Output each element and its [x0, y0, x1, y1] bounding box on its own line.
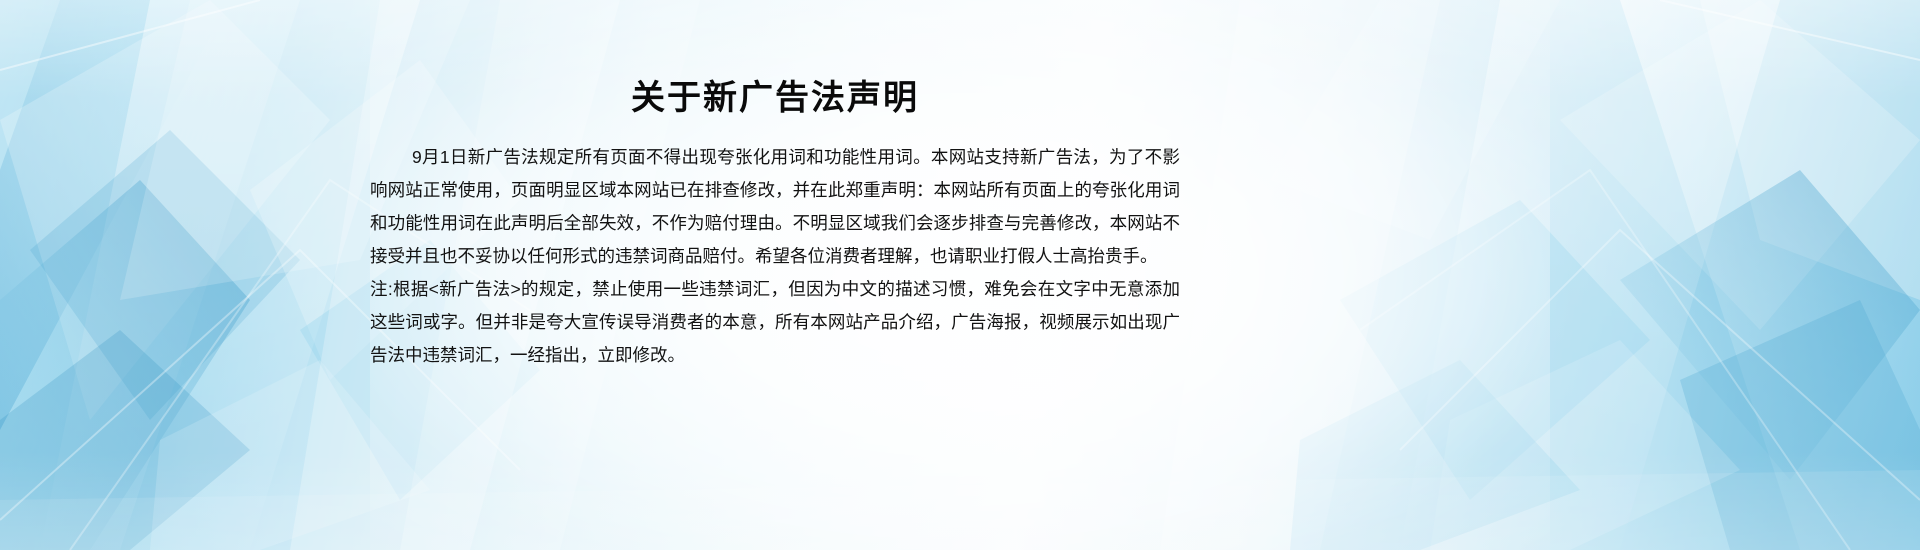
banner-canvas: 关于新广告法声明 9月1日新广告法规定所有页面不得出现夸张化用词和功能性用词。本… [0, 0, 1920, 550]
page-title: 关于新广告法声明 [370, 78, 1180, 119]
notice-paragraph-note: 注:根据<新广告法>的规定，禁止使用一些违禁词汇，但因为中文的描述习惯，难免会在… [370, 273, 1180, 372]
notice-body: 9月1日新广告法规定所有页面不得出现夸张化用词和功能性用词。本网站支持新广告法，… [370, 141, 1180, 372]
banner-content: 关于新广告法声明 9月1日新广告法规定所有页面不得出现夸张化用词和功能性用词。本… [0, 0, 1920, 550]
notice-paragraph-main: 9月1日新广告法规定所有页面不得出现夸张化用词和功能性用词。本网站支持新广告法，… [370, 141, 1180, 273]
advertising-law-notice: 关于新广告法声明 9月1日新广告法规定所有页面不得出现夸张化用词和功能性用词。本… [370, 78, 1180, 372]
